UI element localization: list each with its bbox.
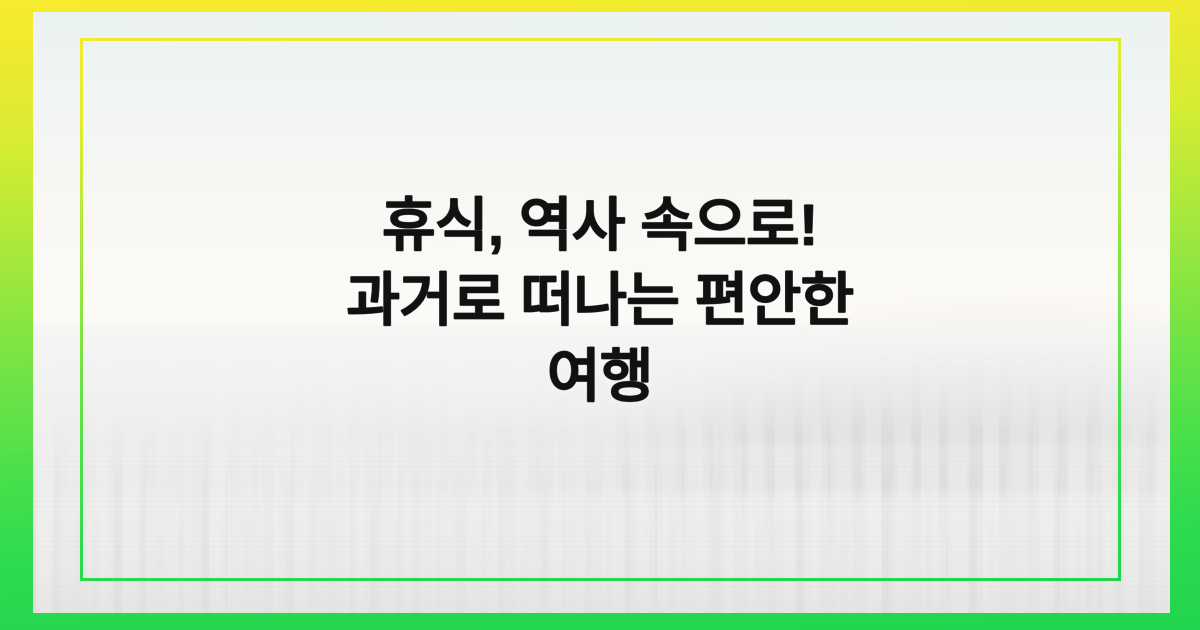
title-line-2: 과거로 떠나는 편안한 — [347, 263, 854, 338]
title-line-1: 휴식, 역사 속으로! — [347, 188, 854, 263]
thumbnail-card: 휴식, 역사 속으로! 과거로 떠나는 편안한 여행 — [0, 0, 1200, 630]
page-title: 휴식, 역사 속으로! 과거로 떠나는 편안한 여행 — [347, 188, 854, 414]
headline-container: 휴식, 역사 속으로! 과거로 떠나는 편안한 여행 — [0, 0, 1200, 630]
title-line-3: 여행 — [347, 339, 854, 414]
